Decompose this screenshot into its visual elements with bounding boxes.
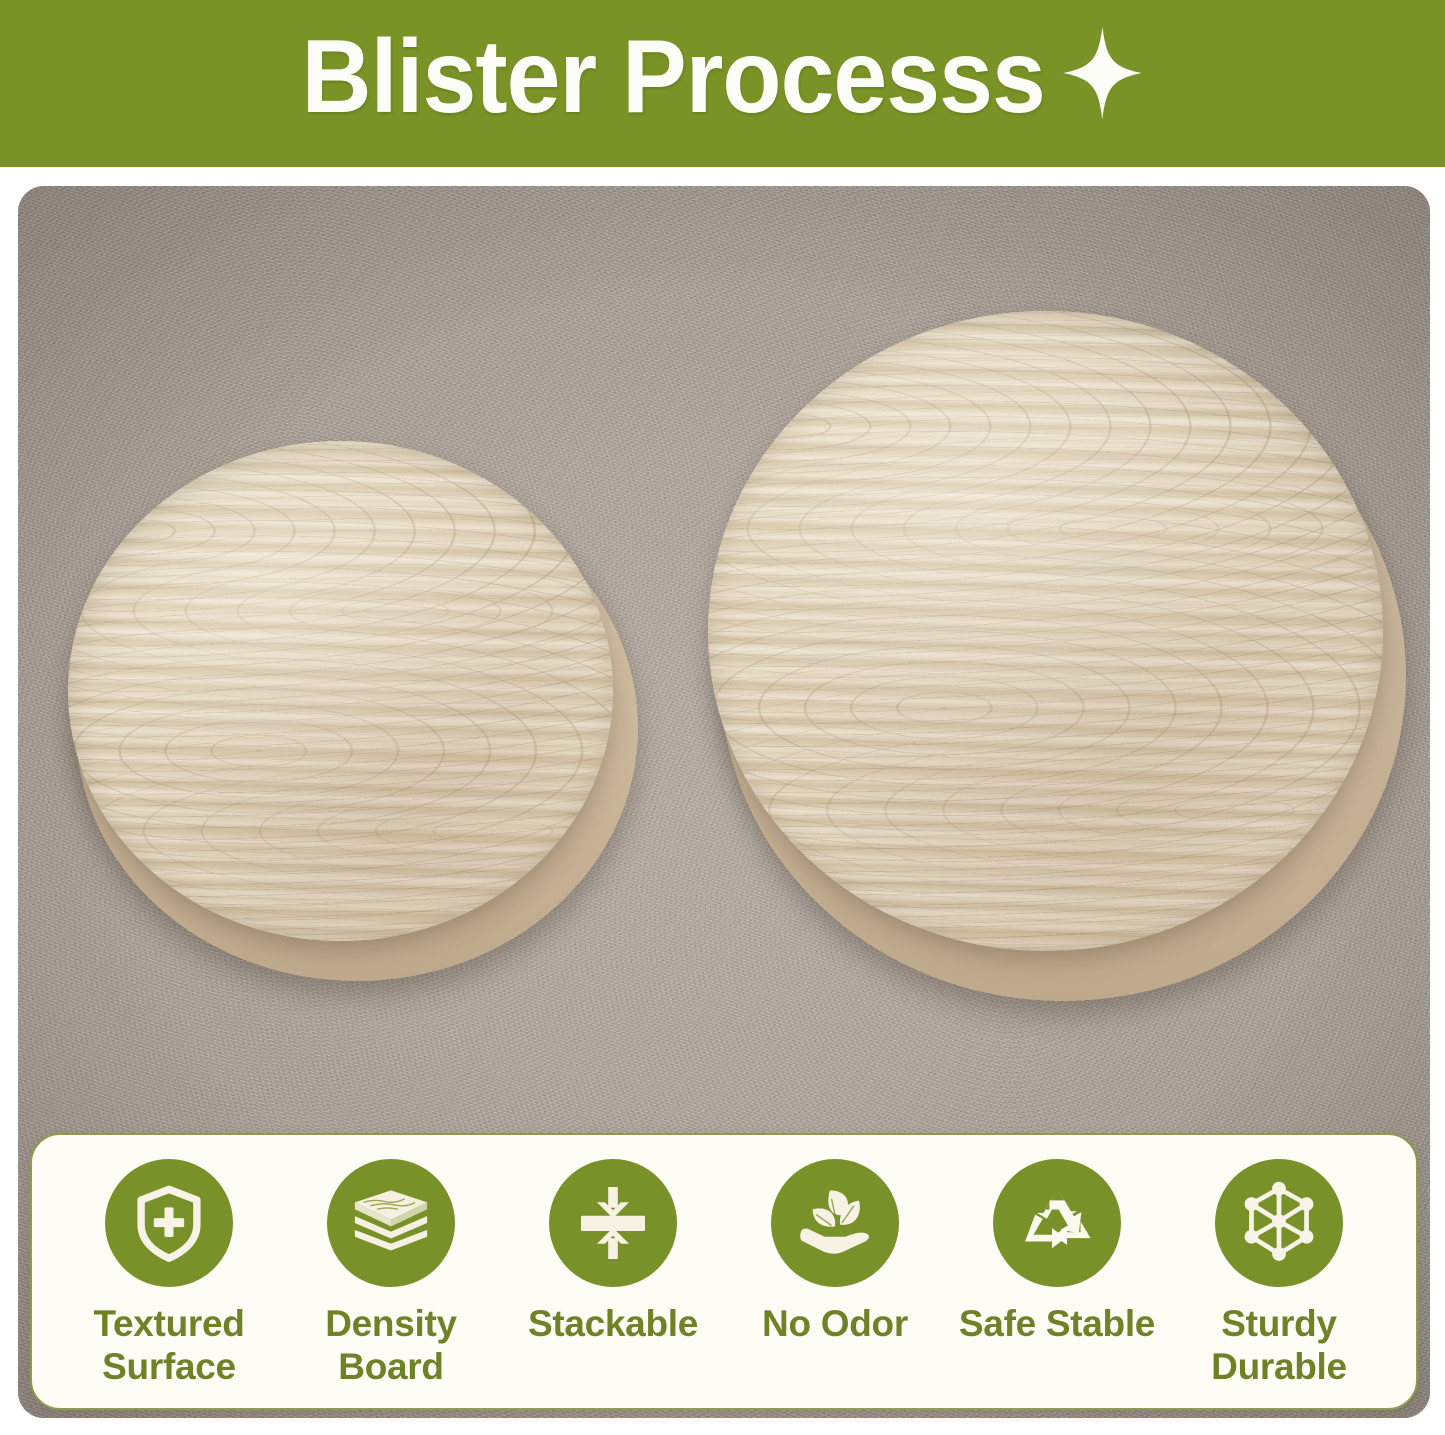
feature-label-line1: Density — [325, 1303, 457, 1344]
feature-label-line1: Stackable — [528, 1303, 698, 1344]
feature-label-line1: Safe Stable — [959, 1303, 1155, 1344]
feature-label: Safe Stable — [959, 1303, 1155, 1346]
page-title-text: Blister Processs — [302, 19, 1045, 135]
feature-sturdy-durable: Sturdy Durable — [1168, 1159, 1390, 1388]
feature-label: Stackable — [528, 1303, 698, 1346]
feature-label-line1: Textured — [93, 1303, 244, 1344]
recycle-icon — [993, 1159, 1121, 1287]
layered-boards-icon — [327, 1159, 455, 1287]
wireframe-cube-icon — [1215, 1159, 1343, 1287]
four-point-sparkle-icon — [1062, 25, 1144, 138]
feature-textured-surface: Textured Surface — [58, 1159, 280, 1388]
feature-stackable: Stackable — [502, 1159, 724, 1346]
feature-label: No Odor — [762, 1303, 908, 1346]
feature-density-board: Density Board — [280, 1159, 502, 1388]
feature-label-line2: Board — [325, 1346, 457, 1389]
feature-label: Density Board — [325, 1303, 457, 1388]
page-title: Blister Processs — [302, 25, 1144, 141]
feature-label-line1: No Odor — [762, 1303, 908, 1344]
feature-label-line1: Sturdy — [1221, 1303, 1336, 1344]
header-banner: Blister Processs — [0, 0, 1445, 167]
feature-label: Textured Surface — [93, 1303, 244, 1388]
shield-plus-icon — [105, 1159, 233, 1287]
feature-label-line2: Surface — [93, 1346, 244, 1389]
feature-safe-stable: Safe Stable — [946, 1159, 1168, 1346]
feature-badges-card: Textured Surface Den — [30, 1133, 1418, 1410]
feature-no-odor: No Odor — [724, 1159, 946, 1346]
feature-label: Sturdy Durable — [1211, 1303, 1347, 1388]
hand-leaf-icon — [771, 1159, 899, 1287]
compression-arrows-icon — [549, 1159, 677, 1287]
feature-label-line2: Durable — [1211, 1346, 1347, 1389]
